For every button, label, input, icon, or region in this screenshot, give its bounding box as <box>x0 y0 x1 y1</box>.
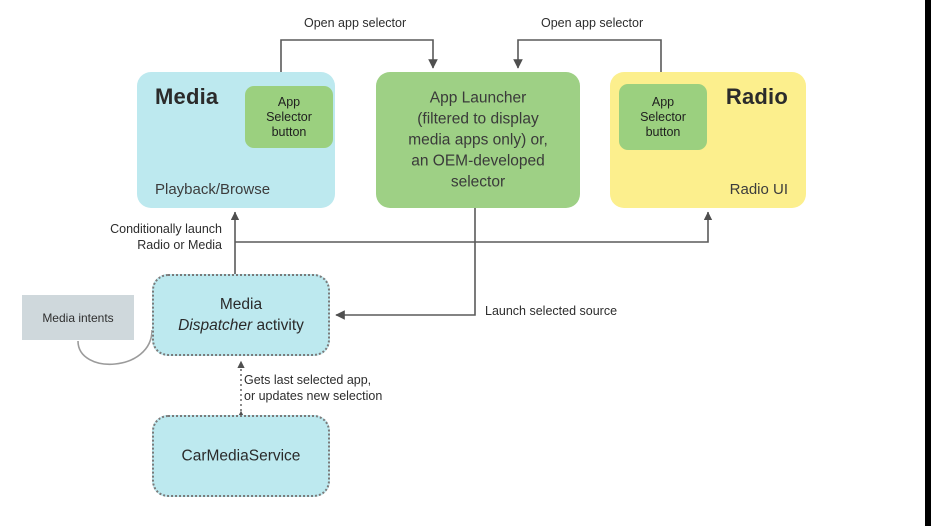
media-dispatcher-label: Media Dispatcher activity <box>154 294 328 336</box>
dispatcher-line2-italic: Dispatcher <box>178 317 252 334</box>
app-launcher-text: App Launcher (filtered to display media … <box>376 88 580 193</box>
edge-label-gets-last-selected: Gets last selected app, or updates new s… <box>244 372 382 404</box>
car-media-service-label: CarMediaService <box>154 446 328 467</box>
edge-radio-to-launcher <box>518 40 661 72</box>
right-edge-bar <box>925 0 931 526</box>
media-app-selector-button[interactable]: App Selector button <box>245 86 333 148</box>
edge-label-conditionally-launch: Conditionally launch Radio or Media <box>98 221 222 253</box>
edge-media-to-launcher <box>281 40 433 72</box>
dispatcher-line1: Media <box>220 296 262 313</box>
edge-label-launch-selected-source: Launch selected source <box>485 303 617 319</box>
node-car-media-service[interactable]: CarMediaService <box>152 415 330 497</box>
edge-label-open-app-selector-left: Open app selector <box>304 15 406 31</box>
radio-title: Radio <box>726 84 788 110</box>
node-media-dispatcher[interactable]: Media Dispatcher activity <box>152 274 330 356</box>
media-intents-label: Media intents <box>22 311 134 325</box>
radio-footer-label: Radio UI <box>730 181 788 198</box>
diagram-canvas: Media App Selector button Playback/Brows… <box>0 0 931 526</box>
dispatcher-line2-rest: activity <box>252 317 304 334</box>
media-footer-label: Playback/Browse <box>155 181 270 198</box>
edge-label-open-app-selector-right: Open app selector <box>541 15 643 31</box>
node-media[interactable]: Media App Selector button Playback/Brows… <box>137 72 335 208</box>
edge-dispatcher-to-radio <box>235 212 708 242</box>
radio-app-selector-button[interactable]: App Selector button <box>619 84 707 150</box>
node-media-intents[interactable]: Media intents <box>22 295 134 340</box>
media-title: Media <box>155 84 218 110</box>
node-radio[interactable]: Radio App Selector button Radio UI <box>610 72 806 208</box>
edge-launcher-to-dispatcher <box>336 208 475 315</box>
node-app-launcher[interactable]: App Launcher (filtered to display media … <box>376 72 580 208</box>
